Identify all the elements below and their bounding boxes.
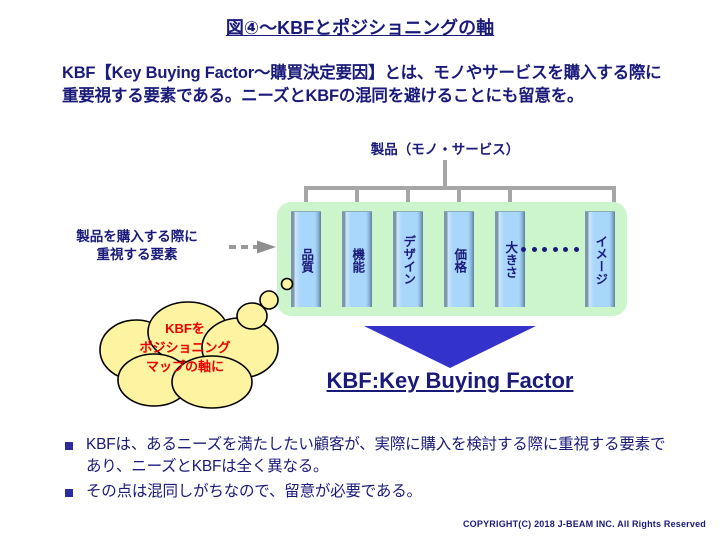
factor-label: 価格: [444, 212, 474, 308]
kbf-heading: KBF:Key Buying Factor: [285, 368, 615, 394]
callout-line3: マップの軸に: [92, 358, 278, 377]
arrow-down-icon: [364, 326, 536, 368]
callout-line1: KBFを: [92, 320, 278, 339]
bullet-square-icon: [65, 489, 73, 497]
purchase-criteria-line2: 重視する要素: [52, 246, 222, 264]
list-item: KBFは、あるニーズを満たしたい顧客が、実際に購入を検討する際に重視する要素であ…: [62, 434, 674, 479]
factor-label: イメージ: [585, 212, 615, 308]
factor-box-design[interactable]: デザイン: [393, 211, 423, 307]
factor-label: 大きさ: [495, 212, 525, 308]
list-item-text: KBFは、あるニーズを満たしたい顧客が、実際に購入を検討する際に重視する要素であ…: [86, 436, 665, 475]
ellipsis-dot: [574, 247, 579, 252]
purchase-criteria-label: 製品を購入する際に 重視する要素: [52, 228, 222, 264]
ellipsis-dots: [521, 247, 579, 252]
list-item: その点は混同しがちなので、留意が必要である。: [62, 481, 674, 503]
footer-copyright: COPYRIGHT(C) 2018 J-BEAM INC. All Rights…: [0, 519, 706, 529]
connector-stem-vertical: [443, 160, 447, 188]
callout-line2: ポジショニング: [92, 339, 278, 358]
factor-label: 機能: [342, 212, 372, 308]
factor-box-size[interactable]: 大きさ: [495, 211, 525, 307]
factor-box-image[interactable]: イメージ: [585, 211, 615, 307]
ellipsis-dot: [553, 247, 558, 252]
page-title: 図④〜KBFとポジショニングの軸: [0, 14, 720, 40]
product-caption: 製品（モノ・サービス）: [330, 138, 560, 158]
ellipsis-dot: [521, 247, 526, 252]
purchase-criteria-line1: 製品を購入する際に: [52, 228, 222, 246]
factor-box-function[interactable]: 機能: [342, 211, 372, 307]
list-item-text: その点は混同しがちなので、留意が必要である。: [86, 483, 422, 500]
ellipsis-dot: [563, 247, 568, 252]
bullet-square-icon: [65, 442, 73, 450]
dashed-arrow-right-icon: [228, 239, 278, 255]
callout-text: KBFを ポジショニング マップの軸に: [92, 320, 278, 377]
thought-bubble-trail-icon: [258, 272, 300, 314]
ellipsis-dot: [542, 247, 547, 252]
lead-paragraph: KBF【Key Buying Factor〜購買決定要因】とは、モノやサービスを…: [62, 62, 672, 109]
bullet-list: KBFは、あるニーズを満たしたい顧客が、実際に購入を検討する際に重視する要素であ…: [62, 434, 674, 505]
factor-label: デザイン: [393, 212, 423, 308]
factor-box-price[interactable]: 価格: [444, 211, 474, 307]
slide-canvas: 図④〜KBFとポジショニングの軸 KBF【Key Buying Factor〜購…: [0, 0, 720, 540]
ellipsis-dot: [532, 247, 537, 252]
